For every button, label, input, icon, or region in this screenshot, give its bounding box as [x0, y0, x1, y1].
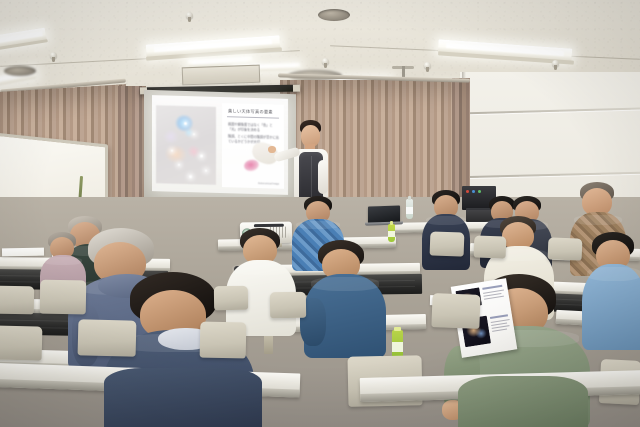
sprinkler-head — [552, 60, 559, 67]
chair — [474, 235, 507, 258]
chair — [40, 280, 87, 315]
chair — [0, 286, 34, 315]
sprinkler-head — [186, 12, 193, 19]
lecture-room-photo: 美しい天体写真の要素 構図や解像度ではなく「色」と「光」が印象を決める 階調、と… — [0, 0, 640, 427]
chair — [0, 325, 42, 360]
paper-sheet — [2, 248, 44, 257]
person-torso-lower — [458, 376, 588, 427]
projected-slide: 美しい天体写真の要素 構図や解像度ではなく「色」と「光」が印象を決める 階調、と… — [152, 95, 288, 195]
slide-title: 美しい天体写真の要素 — [228, 108, 273, 115]
person-torso-lower — [104, 368, 262, 427]
person-torso — [582, 264, 640, 350]
chair — [78, 319, 137, 356]
ceiling-vent — [4, 66, 36, 76]
sprinkler-head — [50, 52, 57, 59]
handout-heading — [490, 314, 508, 319]
slide-credit: Astronomical Image — [258, 182, 279, 186]
presenter-hand — [268, 146, 276, 153]
chair — [200, 322, 247, 359]
water-bottle — [406, 199, 413, 219]
chair — [431, 293, 480, 329]
sprinkler-head — [424, 62, 431, 69]
screen-housing-cap — [293, 85, 300, 92]
presenter-arm — [318, 160, 328, 194]
ceiling-vent — [318, 9, 350, 21]
chair — [548, 237, 583, 260]
chair — [214, 286, 248, 310]
sprinkler-head — [322, 58, 329, 65]
tea-bottle — [388, 224, 395, 242]
slide-nebula-photo — [156, 105, 216, 185]
wall-trim — [460, 107, 640, 114]
chair — [270, 292, 306, 319]
slide-bullet-1: 構図や解像度ではなく「色」と「光」が印象を決める — [228, 122, 280, 133]
chair — [430, 231, 465, 256]
ceiling-duct — [182, 65, 261, 86]
wall-trim — [460, 172, 640, 178]
projector-top-panel — [254, 224, 284, 228]
